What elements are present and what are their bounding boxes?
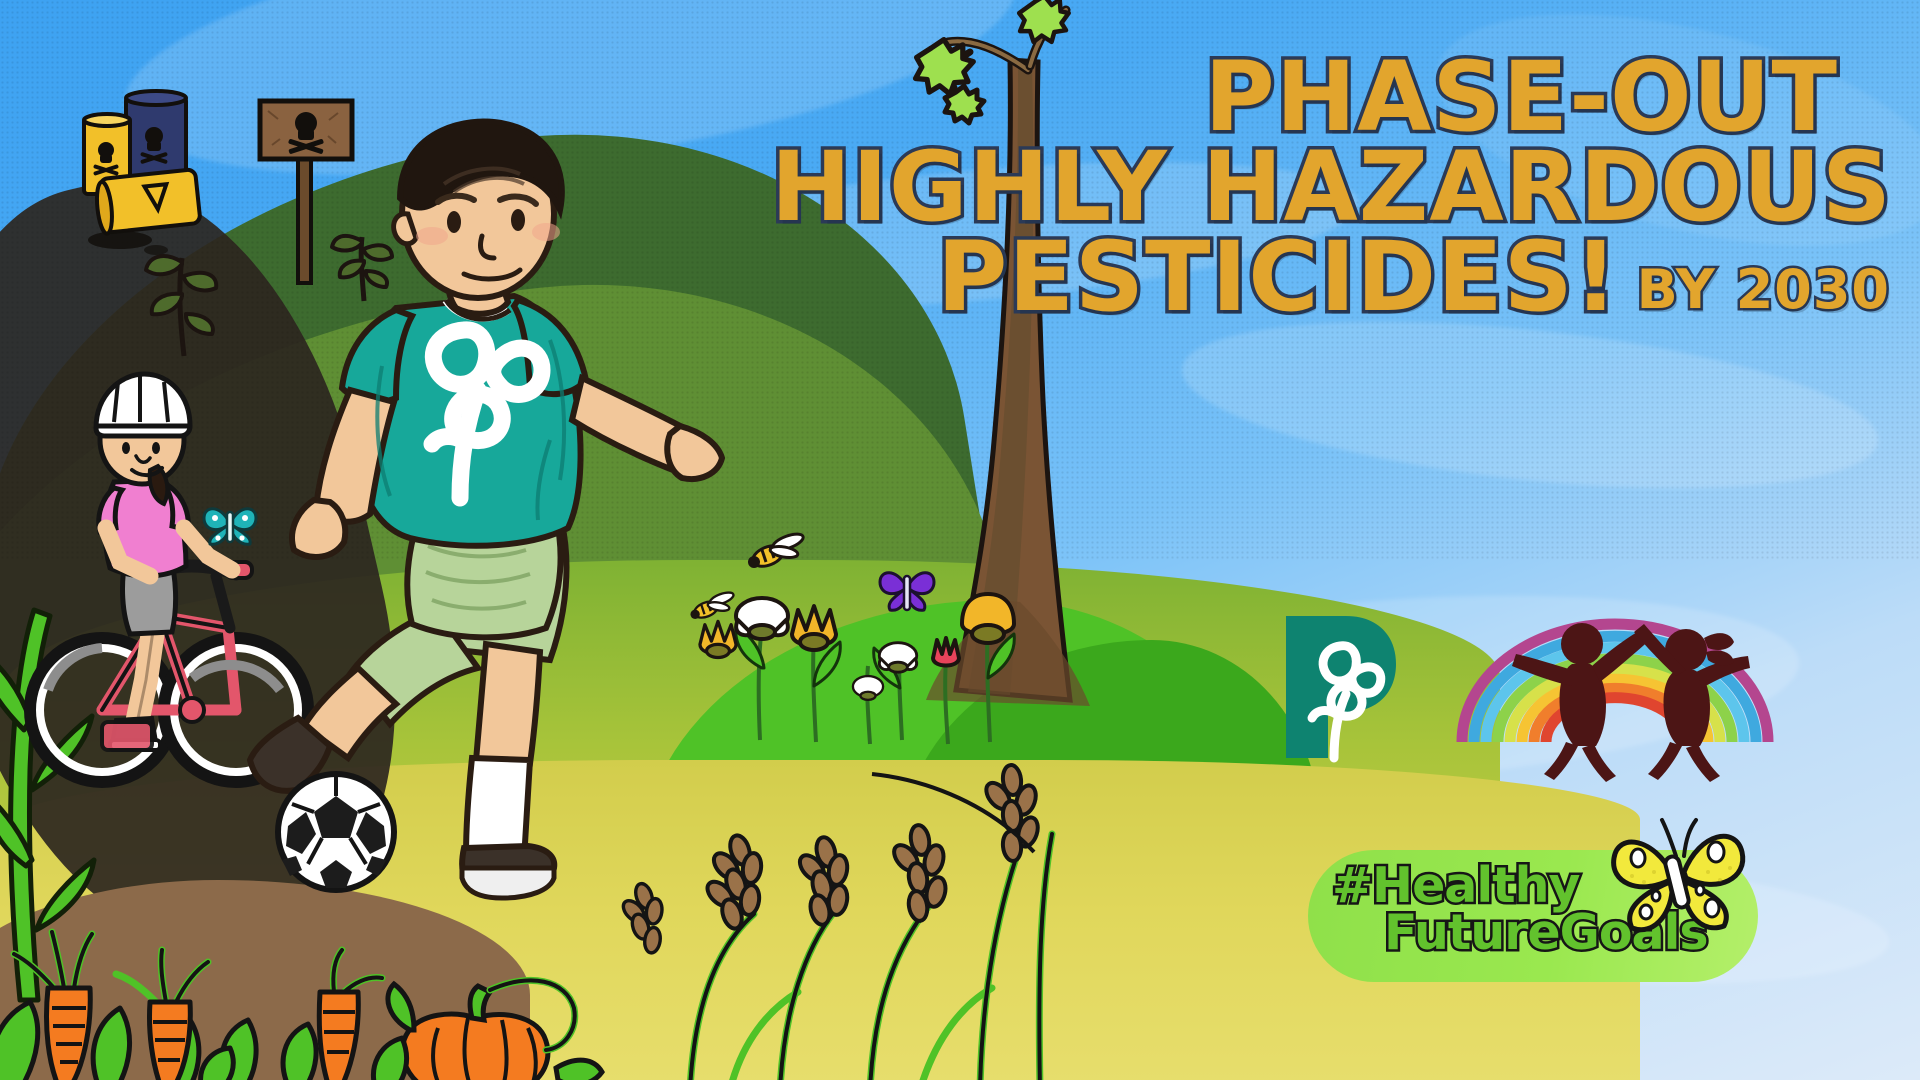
pan-leaf-p-logo xyxy=(1280,612,1400,762)
headline-block: PHASE-OUT HIGHLY HAZARDOUS PESTICIDES! B… xyxy=(760,52,1900,323)
carrots-and-pumpkins xyxy=(0,930,610,1080)
headline-line-1: PHASE-OUT xyxy=(760,52,1900,142)
teal-butterfly xyxy=(202,500,258,546)
soccer-ball xyxy=(272,768,400,896)
wilted-poisoned-plant xyxy=(130,240,240,360)
headline-line-3: PESTICIDES! xyxy=(937,232,1619,322)
yellow-butterfly-icon xyxy=(1608,816,1748,936)
wheat-stalks xyxy=(620,760,1120,1080)
headline-line-2: HIGHLY HAZARDOUS xyxy=(760,142,1900,232)
logo-row: Protect Our Children From Toxic Pesticid… xyxy=(1280,612,1900,772)
campaign-banner: PHASE-OUT HIGHLY HAZARDOUS PESTICIDES! B… xyxy=(0,0,1920,1080)
children-rainbow-logo xyxy=(1440,616,1790,746)
headline-deadline: BY 2030 xyxy=(1637,265,1890,323)
hashtag-badge: #Healthy FutureGoals xyxy=(1308,850,1758,982)
headline-line-3-row: PESTICIDES! BY 2030 xyxy=(760,232,1900,322)
